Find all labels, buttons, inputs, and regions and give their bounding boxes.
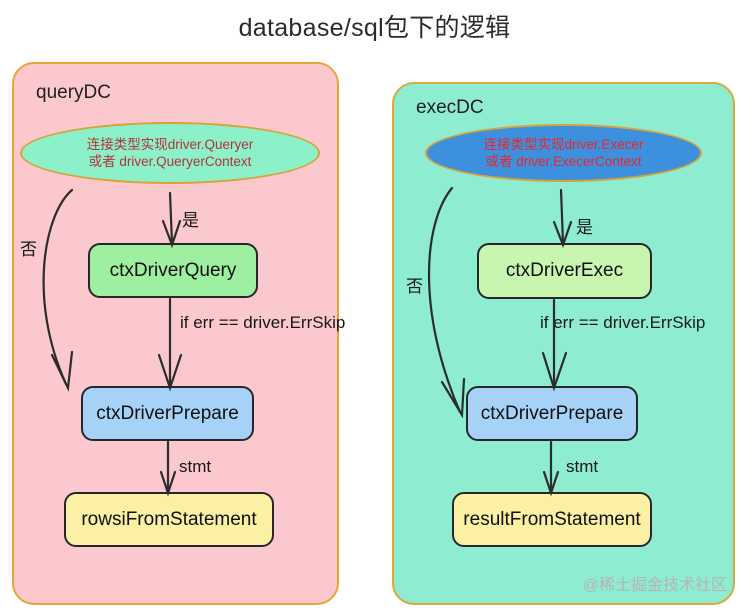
- edge-label-yes-query: 是: [182, 206, 199, 231]
- node-label: resultFromStatement: [463, 509, 640, 531]
- panel-execdc-label: execDC: [416, 97, 484, 119]
- edge-label-no-exec: 否: [400, 277, 425, 294]
- decision-line-1: 连接类型实现driver.Execer: [484, 136, 644, 153]
- decision-ellipse-execer: 连接类型实现driver.Execer 或者 driver.ExecerCont…: [425, 124, 702, 182]
- edge-label-stmt-exec: stmt: [566, 457, 598, 477]
- watermark: @稀土掘金技术社区: [583, 571, 727, 595]
- node-label: ctxDriverPrepare: [481, 403, 624, 425]
- node-ctxdriverquery[interactable]: ctxDriverQuery: [88, 243, 258, 298]
- node-label: rowsiFromStatement: [81, 509, 256, 531]
- edge-label-errskip-exec: if err == driver.ErrSkip: [540, 313, 705, 333]
- node-label: ctxDriverQuery: [110, 260, 237, 282]
- decision-line-2: 或者 driver.QueryerContext: [89, 153, 252, 170]
- node-rowsifromstatement[interactable]: rowsiFromStatement: [64, 492, 274, 547]
- panel-querydc-label: queryDC: [36, 82, 111, 104]
- edge-label-stmt-query: stmt: [179, 457, 211, 477]
- node-ctxdriverprepare-exec[interactable]: ctxDriverPrepare: [466, 386, 638, 441]
- node-ctxdriverexec[interactable]: ctxDriverExec: [477, 243, 652, 299]
- node-label: ctxDriverExec: [506, 260, 623, 282]
- node-label: ctxDriverPrepare: [96, 403, 239, 425]
- node-resultfromstatement[interactable]: resultFromStatement: [452, 492, 652, 547]
- decision-line-1: 连接类型实现driver.Queryer: [87, 136, 254, 153]
- node-ctxdriverprepare-query[interactable]: ctxDriverPrepare: [81, 386, 254, 441]
- edge-label-yes-exec: 是: [576, 213, 593, 238]
- decision-line-2: 或者 driver.ExecerContext: [485, 153, 641, 170]
- edge-label-errskip-query: if err == driver.ErrSkip: [180, 313, 345, 333]
- decision-ellipse-queryer: 连接类型实现driver.Queryer 或者 driver.QueryerCo…: [20, 122, 320, 184]
- edge-label-no-query: 否: [14, 240, 39, 257]
- page-title: database/sql包下的逻辑: [0, 8, 749, 44]
